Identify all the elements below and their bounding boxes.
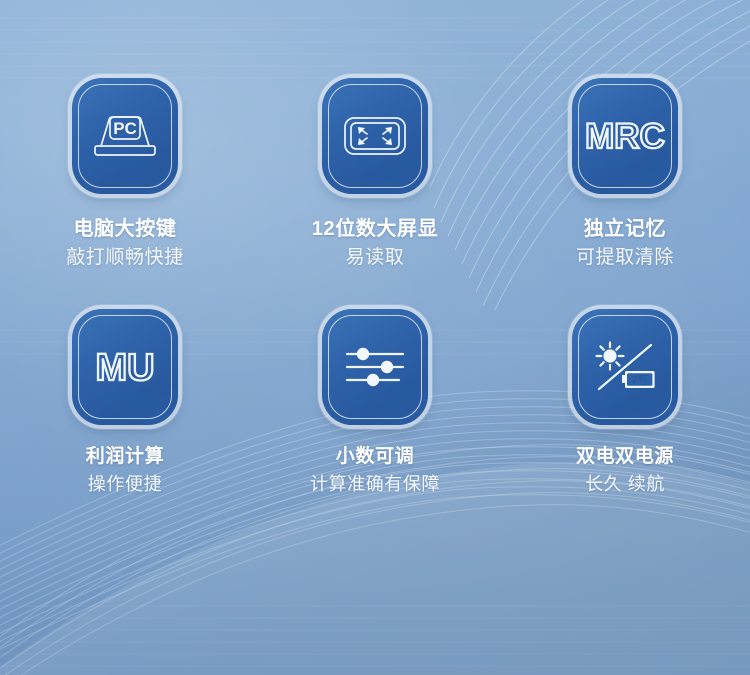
feature-icon-tile: 7号 [572,309,678,425]
battery-label: 7号 [631,373,648,386]
feature-title: 12位数大屏显 [312,216,438,242]
feature-title: 独立记忆 [576,216,674,242]
feature-item-mu[interactable]: MU 利润计算 操作便捷 [0,309,250,497]
feature-subtitle: 长久 续航 [576,473,674,496]
feature-title: 双电双电源 [576,445,674,470]
mu-markup-icon: MU [87,344,163,390]
feature-caption: 独立记忆 可提取清除 [576,216,674,271]
feature-icon-tile [322,78,428,194]
feature-caption: 利润计算 操作便捷 [86,445,164,497]
feature-caption: 12位数大屏显 易读取 [312,216,438,271]
feature-item-mrc[interactable]: MRC 独立记忆 可提取清除 [500,78,750,271]
feature-grid: PC 电脑大按键 敲打顺畅快捷 [0,0,750,497]
mrc-memory-icon: MRC [585,114,665,158]
feature-item-decimal[interactable]: 小数可调 计算准确有保障 [250,309,500,497]
decimal-sliders-icon [343,343,407,391]
svg-text:PC: PC [113,119,137,138]
big-screen-expand-icon [343,112,407,160]
feature-subtitle: 易读取 [312,246,438,271]
feature-icon-tile: MRC [572,78,678,194]
sun-icon [597,342,624,369]
feature-item-pc[interactable]: PC 电脑大按键 敲打顺畅快捷 [0,78,250,271]
mu-label: MU [95,347,154,389]
feature-item-big-screen[interactable]: 12位数大屏显 易读取 [250,78,500,271]
feature-icon-tile: PC [72,78,178,194]
feature-caption: 小数可调 计算准确有保障 [310,445,440,497]
keyboard-keycap-pc-icon: PC [93,112,157,160]
feature-subtitle: 可提取清除 [576,246,674,271]
feature-title: 小数可调 [310,445,440,470]
feature-subtitle: 计算准确有保障 [310,473,440,496]
feature-subtitle: 敲打顺畅快捷 [66,246,184,271]
feature-grid-banner: PC 电脑大按键 敲打顺畅快捷 [0,0,750,675]
mrc-label: MRC [585,117,665,156]
feature-title: 电脑大按键 [66,216,184,242]
feature-icon-tile [322,309,428,425]
feature-caption: 电脑大按键 敲打顺畅快捷 [66,216,184,271]
feature-subtitle: 操作便捷 [86,473,164,496]
battery-icon: 7号 [622,371,655,388]
solar-battery-dual-power-icon: 7号 [591,339,659,395]
feature-title: 利润计算 [86,445,164,470]
feature-caption: 双电双电源 长久 续航 [576,445,674,497]
feature-item-dual-power[interactable]: 7号 双电双电源 长久 续航 [500,309,750,497]
feature-icon-tile: MU [72,309,178,425]
